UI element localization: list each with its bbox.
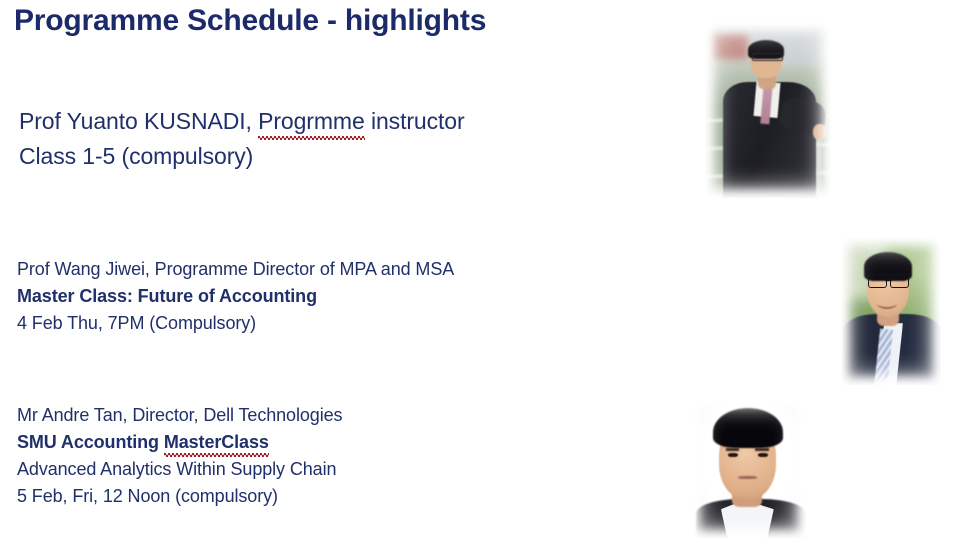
person-hand [813, 124, 827, 140]
text-segment: 5 Feb, Fri, 12 Noon (compulsory) [17, 486, 278, 506]
portrait-photo-kusnadi [705, 22, 831, 198]
portrait-image-tan [691, 397, 806, 538]
presentation-slide: Programme Schedule - highlights Prof Yua… [0, 0, 975, 538]
schedule-text-line: Class 1-5 (compulsory) [19, 139, 465, 174]
person-mouth [877, 298, 897, 309]
person-eye-right [758, 453, 768, 457]
schedule-text-line: 5 Feb, Fri, 12 Noon (compulsory) [17, 483, 342, 510]
schedule-text-line: 4 Feb Thu, 7PM (Compulsory) [17, 310, 454, 337]
text-segment: 4 Feb Thu, 7PM (Compulsory) [17, 313, 256, 333]
text-segment: SMU Accounting [17, 432, 164, 452]
person-eyebrow-right [755, 448, 769, 451]
person-eye-left [728, 453, 738, 457]
schedule-text-line: SMU Accounting MasterClass [17, 429, 342, 456]
text-segment: Advanced Analytics Within Supply Chain [17, 459, 336, 479]
glasses-bridge [885, 279, 892, 281]
text-segment: Prof Wang Jiwei, Programme Director of M… [17, 259, 454, 279]
schedule-entry-kusnadi: Prof Yuanto KUSNADI, Progrmme instructor… [19, 104, 465, 174]
schedule-text-line: Prof Yuanto KUSNADI, Progrmme instructor [19, 104, 465, 139]
text-segment: instructor [365, 108, 465, 134]
glasses-lens-right [890, 274, 909, 288]
schedule-text-line: Prof Wang Jiwei, Programme Director of M… [17, 256, 454, 283]
misspelled-word: Progrmme [258, 104, 365, 139]
schedule-entry-wang: Prof Wang Jiwei, Programme Director of M… [17, 256, 454, 337]
portrait-photo-tan [691, 397, 806, 538]
schedule-entry-tan: Mr Andre Tan, Director, Dell Technologie… [17, 402, 342, 510]
text-segment: Mr Andre Tan, Director, Dell Technologie… [17, 405, 342, 425]
misspelled-word: MasterClass [164, 429, 269, 456]
person-eyebrow-left [726, 448, 740, 451]
text-segment: Prof Yuanto KUSNADI, [19, 108, 258, 134]
photo-background-detail [710, 33, 748, 59]
person-mouth [738, 476, 756, 479]
person-hair [713, 408, 783, 447]
text-segment: Class 1-5 (compulsory) [19, 143, 253, 169]
page-title: Programme Schedule - highlights [14, 4, 486, 38]
glasses-lens-left [868, 274, 887, 288]
glasses-icon [868, 274, 909, 286]
text-segment: Master Class: Future of Accounting [17, 286, 317, 306]
portrait-photo-wang [841, 237, 941, 385]
portrait-image-kusnadi [705, 22, 831, 198]
schedule-text-line: Master Class: Future of Accounting [17, 283, 454, 310]
glasses-icon [752, 53, 783, 61]
schedule-text-line: Mr Andre Tan, Director, Dell Technologie… [17, 402, 342, 429]
portrait-image-wang [841, 237, 941, 385]
schedule-text-line: Advanced Analytics Within Supply Chain [17, 456, 342, 483]
